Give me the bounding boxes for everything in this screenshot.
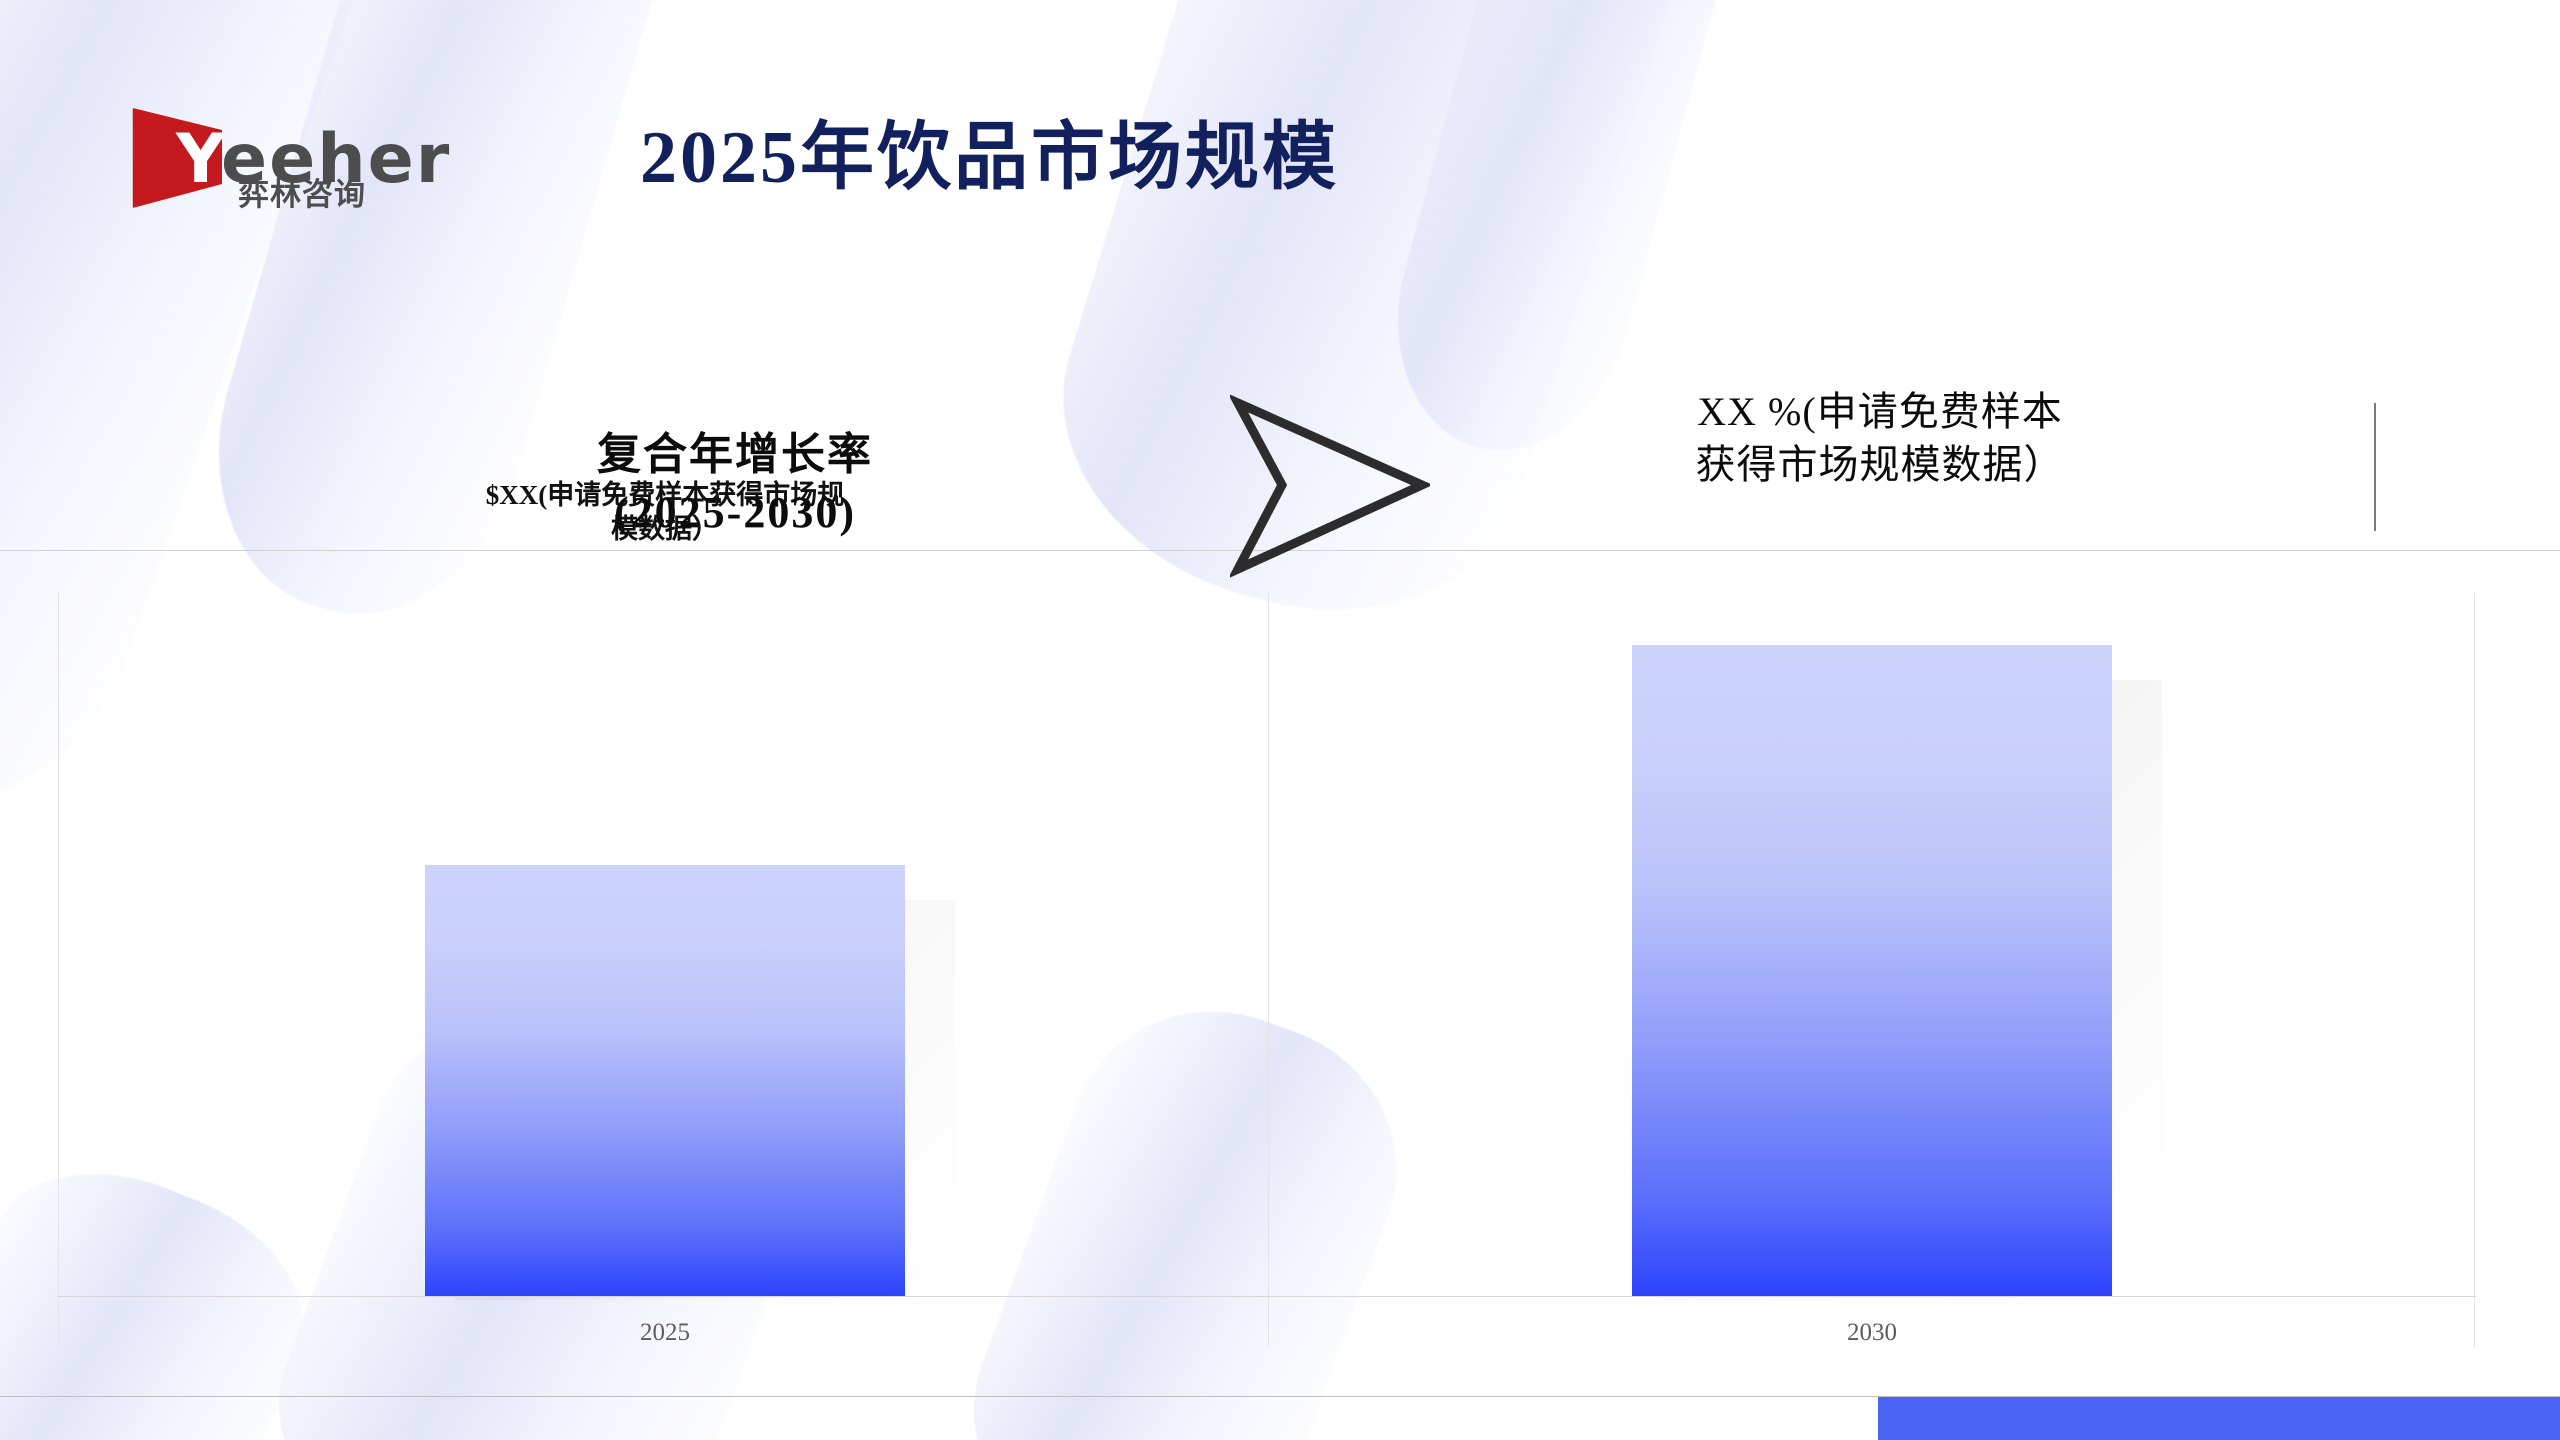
cagr-label-line2: (2025-2030) bbox=[560, 484, 910, 542]
chart-gridline-left bbox=[58, 593, 59, 1347]
vertical-divider bbox=[2374, 403, 2376, 531]
growth-rate-note: XX %(申请免费样本 获得市场规模数据） bbox=[1620, 385, 2140, 491]
arrow-right-icon bbox=[1230, 393, 1430, 578]
chart-gridline-right bbox=[2474, 593, 2475, 1347]
brand-logo: Yeeher 弈林咨询 bbox=[130, 108, 470, 208]
page-title: 2025年饮品市场规模 bbox=[640, 118, 1339, 198]
chart-baseline-axis bbox=[58, 1296, 2476, 1297]
logo-subtitle: 弈林咨询 bbox=[238, 180, 366, 211]
bar-chart bbox=[0, 550, 2560, 1396]
chart-gridline-middle bbox=[1268, 593, 1269, 1347]
growth-rate-note-line1: XX %(申请免费样本 bbox=[1620, 385, 2140, 438]
footer-accent-bar bbox=[1878, 1397, 2560, 1440]
logo-wordmark-initial: Y bbox=[176, 120, 221, 199]
cagr-label: 复合年增长率 (2025-2030) bbox=[560, 426, 910, 542]
growth-rate-note-line2: 获得市场规模数据） bbox=[1620, 438, 2140, 491]
cagr-label-line1: 复合年增长率 bbox=[560, 426, 910, 484]
